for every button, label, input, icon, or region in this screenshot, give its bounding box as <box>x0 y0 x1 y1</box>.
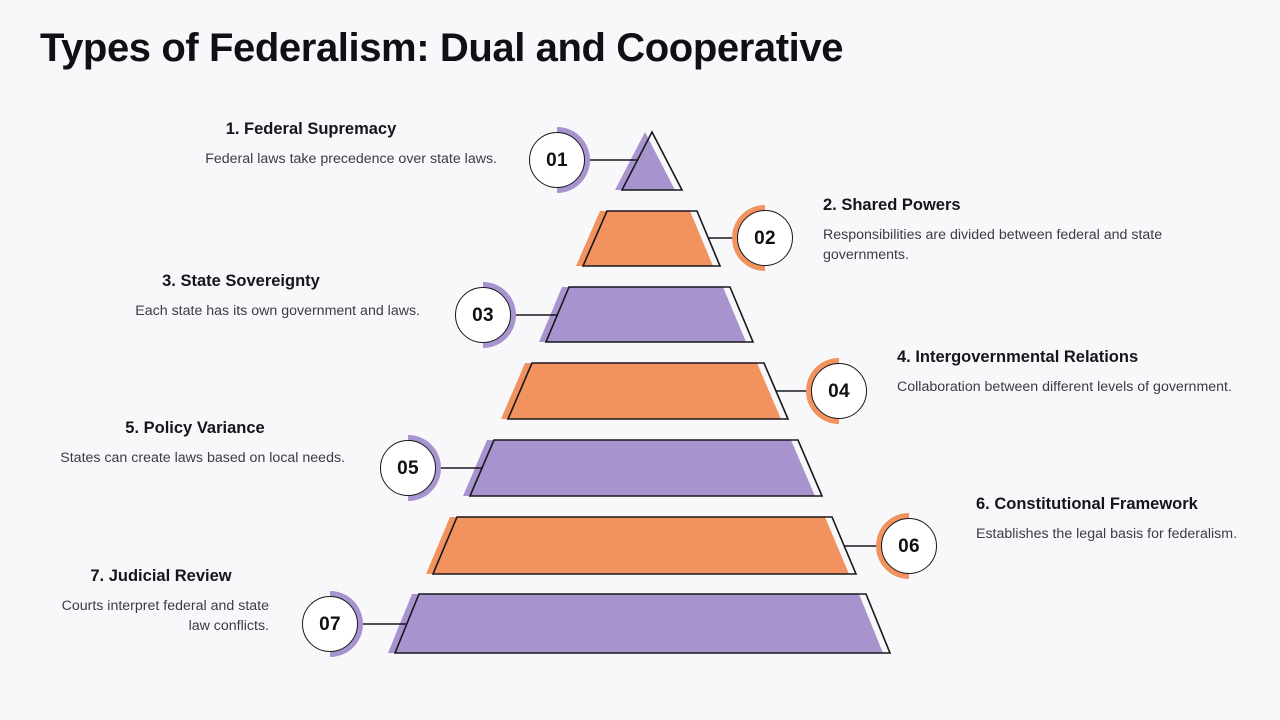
badge-number-03: 03 <box>472 306 494 325</box>
badge-disc-07: 07 <box>302 596 358 652</box>
callout-01-description: Federal laws take precedence over state … <box>125 149 497 169</box>
callout-06-title: 6. Constitutional Framework <box>976 494 1266 515</box>
badge-02[interactable]: 02 <box>737 210 793 266</box>
badge-05[interactable]: 05 <box>380 440 436 496</box>
callout-04: 4. Intergovernmental Relations Collabora… <box>897 347 1237 397</box>
pyramid-level-1-fill <box>615 132 675 190</box>
badge-number-02: 02 <box>754 229 776 248</box>
badge-01[interactable]: 01 <box>529 132 585 188</box>
badge-number-01: 01 <box>546 151 568 170</box>
pyramid-level-2[interactable] <box>576 211 740 266</box>
badge-disc-03: 03 <box>455 287 511 343</box>
pyramid-level-7[interactable] <box>358 594 890 653</box>
callout-04-description: Collaboration between different levels o… <box>897 377 1237 397</box>
slide-canvas: Types of Federalism: Dual and Cooperativ… <box>0 0 1280 720</box>
pyramid-level-6-fill <box>426 517 849 574</box>
badge-disc-02: 02 <box>737 210 793 266</box>
badge-04[interactable]: 04 <box>811 363 867 419</box>
callout-07-description: Courts interpret federal and state law c… <box>53 596 269 636</box>
pyramid-level-5-fill <box>463 440 815 496</box>
badge-number-04: 04 <box>828 382 850 401</box>
callout-06-description: Establishes the legal basis for federali… <box>976 524 1266 544</box>
badge-06[interactable]: 06 <box>881 518 937 574</box>
badge-disc-06: 06 <box>881 518 937 574</box>
callout-05-description: States can create laws based on local ne… <box>45 448 345 468</box>
callout-02-description: Responsibilities are divided between fed… <box>823 225 1215 265</box>
callout-03: 3. State Sovereignty Each state has its … <box>62 271 420 321</box>
pyramid-level-1[interactable] <box>587 132 682 190</box>
badge-03[interactable]: 03 <box>455 287 511 343</box>
callout-02: 2. Shared Powers Responsibilities are di… <box>823 195 1215 265</box>
callout-05: 5. Policy Variance States can create law… <box>45 418 345 468</box>
callout-02-title: 2. Shared Powers <box>823 195 1215 216</box>
badge-disc-04: 04 <box>811 363 867 419</box>
callout-05-title: 5. Policy Variance <box>45 418 345 439</box>
pyramid-level-7-fill <box>388 594 883 653</box>
callout-03-description: Each state has its own government and la… <box>62 301 420 321</box>
callout-04-title: 4. Intergovernmental Relations <box>897 347 1237 368</box>
badge-disc-05: 05 <box>380 440 436 496</box>
callout-07: 7. Judicial Review Courts interpret fede… <box>53 566 269 636</box>
badge-07[interactable]: 07 <box>302 596 358 652</box>
badge-number-07: 07 <box>319 615 341 634</box>
callout-01: 1. Federal Supremacy Federal laws take p… <box>125 119 497 169</box>
callout-07-title: 7. Judicial Review <box>53 566 269 587</box>
callout-06: 6. Constitutional Framework Establishes … <box>976 494 1266 544</box>
pyramid-level-2-fill <box>576 211 713 266</box>
callout-01-title: 1. Federal Supremacy <box>125 119 497 140</box>
badge-disc-01: 01 <box>529 132 585 188</box>
pyramid-level-4[interactable] <box>501 363 814 419</box>
callout-03-title: 3. State Sovereignty <box>62 271 420 292</box>
pyramid-level-5[interactable] <box>437 440 822 496</box>
pyramid-level-3[interactable] <box>513 287 753 342</box>
pyramid-level-4-fill <box>501 363 781 419</box>
badge-number-05: 05 <box>397 459 419 478</box>
badge-number-06: 06 <box>898 537 920 556</box>
pyramid-level-6[interactable] <box>426 517 884 574</box>
pyramid-level-3-fill <box>539 287 746 342</box>
